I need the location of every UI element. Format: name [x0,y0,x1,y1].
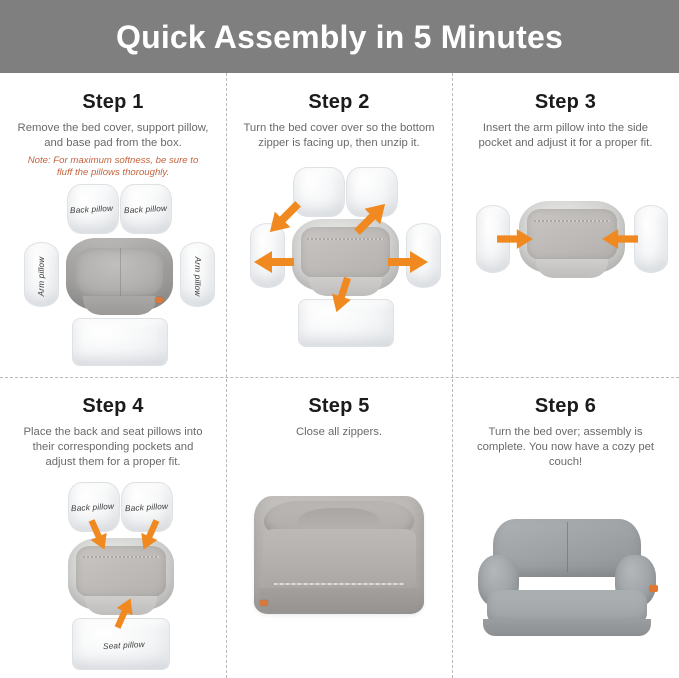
arm-pillow-right-label: Arm pillow [193,254,202,299]
page-title: Quick Assembly in 5 Minutes [116,21,563,53]
base-pad-shape [72,318,168,366]
step-cell-5: Step 5 Close all zippers. [226,377,452,678]
bed-front-face [263,529,416,590]
step-4-title: Step 4 [10,395,216,418]
back-pillow-right-label: Back pillow [124,204,168,215]
step-1-description: Remove the bed cover, support pillow, an… [10,121,216,151]
bed-base [259,588,419,612]
step-cell-6: Step 6 Turn the bed over; assembly is co… [452,377,679,678]
step-2-title: Step 2 [236,91,442,114]
bed-cover-lining [301,227,391,277]
step-6-illustration [462,512,669,678]
bed-cover-lining [76,546,165,596]
step-1-title: Step 1 [10,91,216,114]
step-6-description: Turn the bed over; assembly is complete.… [462,425,669,470]
assembly-infographic: Quick Assembly in 5 Minutes Step 1 Remov… [0,0,679,678]
zipper-icon [534,220,610,222]
step-cell-2: Step 2 Turn the bed cover over so the bo… [226,73,452,377]
arrow-insert-right-icon [602,229,638,249]
bed-cover-shape [66,238,173,310]
step-3-title: Step 3 [462,91,669,114]
assembled-bed-upside-down-shape [254,496,424,614]
step-5-title: Step 5 [236,395,442,418]
step-3-description: Insert the arm pillow into the side pock… [462,121,669,151]
step-cell-3: Step 3 Insert the arm pillow into the si… [452,73,679,377]
step-5-description: Close all zippers. [236,425,442,440]
step-2-description: Turn the bed cover over so the bottom zi… [236,121,442,151]
arrow-right-icon [388,251,428,273]
brand-tag-icon [260,600,268,606]
step-cell-1: Step 1 Remove the bed cover, support pil… [0,73,226,377]
brand-tag-icon [649,585,658,592]
step-5-illustration [236,496,442,676]
steps-grid: Step 1 Remove the bed cover, support pil… [0,73,679,678]
step-2-illustration [236,167,442,372]
seat-pillow-label: Seat pillow [103,640,145,651]
zipper-icon [307,238,384,240]
step-1-note: Note: For maximum softness, be sure to f… [10,155,216,180]
step-3-illustration [462,199,669,377]
step-4-illustration: Back pillow Back pillow Seat pillow [10,482,216,678]
brand-tag-icon [155,297,163,303]
zipper-icon [274,583,403,585]
bed-cover-skirt [83,296,156,315]
back-pillow-right-label: Back pillow [125,502,169,513]
step-1-illustration: Back pillow Back pillow Arm pillow Arm p… [10,180,216,370]
couch-back-seam [567,522,568,572]
step-cell-4: Step 4 Place the back and seat pillows i… [0,377,226,678]
step-4-description: Place the back and seat pillows into the… [10,425,216,470]
arrow-left-icon [254,251,294,273]
arm-pillow-right-shape [634,205,668,273]
finished-pet-couch-shape [474,512,660,638]
bed-cover-seam [120,248,121,297]
header-banner: Quick Assembly in 5 Minutes [0,0,679,73]
arrow-insert-left-icon [497,229,533,249]
step-6-title: Step 6 [462,395,669,418]
back-pillow-left-label: Back pillow [71,502,115,513]
back-pillow-left-label: Back pillow [70,204,114,215]
couch-base [483,619,650,637]
bed-cover-skirt [536,259,608,278]
arm-pillow-left-label: Arm pillow [37,254,46,299]
